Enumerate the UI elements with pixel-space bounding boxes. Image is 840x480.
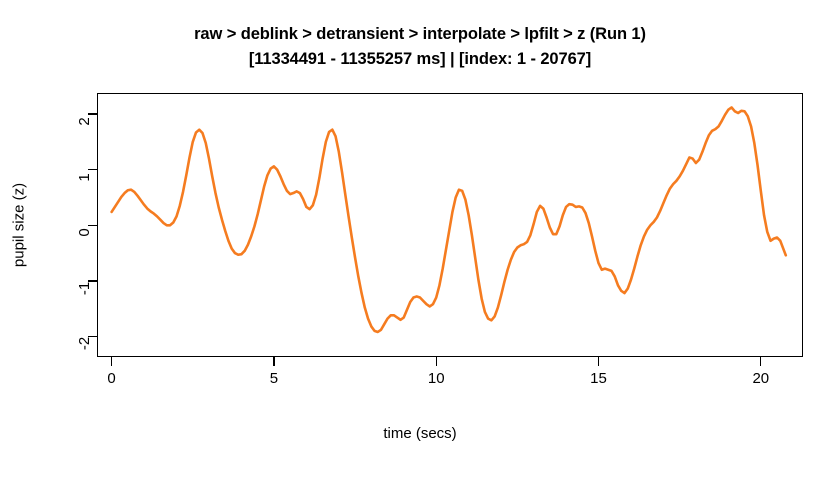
x-tick-label: 10: [428, 371, 445, 386]
y-tick-label: 0: [77, 229, 92, 237]
x-axis: 05101520: [97, 357, 803, 407]
y-tick-mark: [88, 225, 97, 226]
chart-title-main: raw > deblink > detransient > interpolat…: [0, 22, 840, 47]
series-path-pupil-size: [112, 107, 786, 332]
x-axis-title: time (secs): [0, 425, 840, 442]
x-tick-mark: [436, 357, 437, 366]
plot-area: [97, 93, 803, 357]
chart-title: raw > deblink > detransient > interpolat…: [0, 22, 840, 72]
x-tick-mark: [598, 357, 599, 366]
x-tick-label: 15: [590, 371, 607, 386]
x-tick-label: 0: [107, 371, 115, 386]
x-tick-mark: [273, 357, 274, 366]
x-tick-label: 20: [752, 371, 769, 386]
y-tick-label: 1: [77, 173, 92, 181]
x-tick-mark: [111, 357, 112, 366]
plot-root: raw > deblink > detransient > interpolat…: [0, 0, 840, 480]
y-tick-label: 2: [77, 117, 92, 125]
y-tick-mark: [88, 113, 97, 114]
y-tick-mark: [88, 169, 97, 170]
y-axis: -2-1012: [0, 93, 97, 357]
y-tick-label: -1: [77, 282, 92, 295]
chart-subtitle: [11334491 - 11355257 ms] | [index: 1 - 2…: [0, 47, 840, 72]
x-tick-mark: [760, 357, 761, 366]
series-line-chart: [97, 93, 803, 357]
y-tick-label: -2: [77, 337, 92, 350]
x-axis-title-label: time (secs): [383, 425, 456, 442]
x-tick-label: 5: [270, 371, 278, 386]
